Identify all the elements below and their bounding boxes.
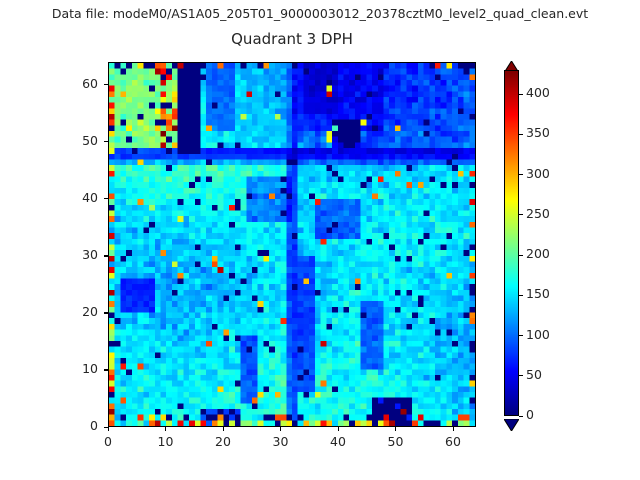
x-tick-label: 40 [308,434,368,449]
y-tick-mark [104,369,108,370]
colorbar-gradient [505,71,518,415]
colorbar-tick-mark [519,375,523,376]
colorbar-tick-label: 400 [526,85,550,100]
y-tick-label: 30 [46,247,98,262]
y-tick-label: 10 [46,361,98,376]
heatmap-axes[interactable] [108,62,476,427]
y-tick-mark [104,312,108,313]
y-tick-mark [104,255,108,256]
colorbar-tick-mark [519,174,523,175]
colorbar-tick-mark [519,214,523,215]
x-tick-mark [223,427,224,431]
colorbar-tick-mark [519,134,523,135]
colorbar-tick-label: 0 [526,407,534,422]
x-tick-label: 30 [251,434,311,449]
x-tick-mark [338,427,339,431]
x-tick-label: 20 [193,434,253,449]
colorbar-tick-label: 150 [526,286,550,301]
colorbar-extend-min-arrow-icon [504,416,519,428]
y-tick-label: 60 [46,76,98,91]
x-tick-label: 50 [366,434,426,449]
datafile-label: Data file: modeM0/AS1A05_205T01_90000030… [0,6,640,21]
colorbar-tick-mark [519,255,523,256]
colorbar-tick-mark [519,416,523,417]
colorbar-tick-label: 200 [526,246,550,261]
colorbar-tick-mark [519,295,523,296]
y-tick-label: 0 [46,418,98,433]
x-tick-mark [165,427,166,431]
x-tick-label: 0 [78,434,138,449]
y-tick-label: 50 [46,133,98,148]
detector-heatmap-image[interactable] [109,63,475,426]
colorbar-tick-label: 350 [526,125,550,140]
x-tick-mark [453,427,454,431]
y-tick-label: 20 [46,304,98,319]
colorbar-bar[interactable] [504,70,519,416]
colorbar-tick-mark [519,94,523,95]
colorbar-tick-label: 50 [526,367,542,382]
colorbar-extend-max-arrow-icon [504,58,519,70]
y-tick-mark [104,141,108,142]
x-tick-mark [108,427,109,431]
y-tick-mark [104,198,108,199]
colorbar-tick-label: 300 [526,166,550,181]
colorbar-tick-mark [519,335,523,336]
y-tick-mark [104,84,108,85]
x-tick-mark [395,427,396,431]
x-tick-label: 60 [423,434,483,449]
page-title: Quadrant 3 DPH [108,30,476,48]
x-tick-mark [280,427,281,431]
colorbar-tick-label: 250 [526,206,550,221]
matplotlib-figure: Data file: modeM0/AS1A05_205T01_90000030… [0,0,640,480]
colorbar-tick-label: 100 [526,327,550,342]
y-tick-label: 40 [46,190,98,205]
colorbar[interactable]: 050100150200250300350400 [504,58,519,428]
x-tick-label: 10 [136,434,196,449]
